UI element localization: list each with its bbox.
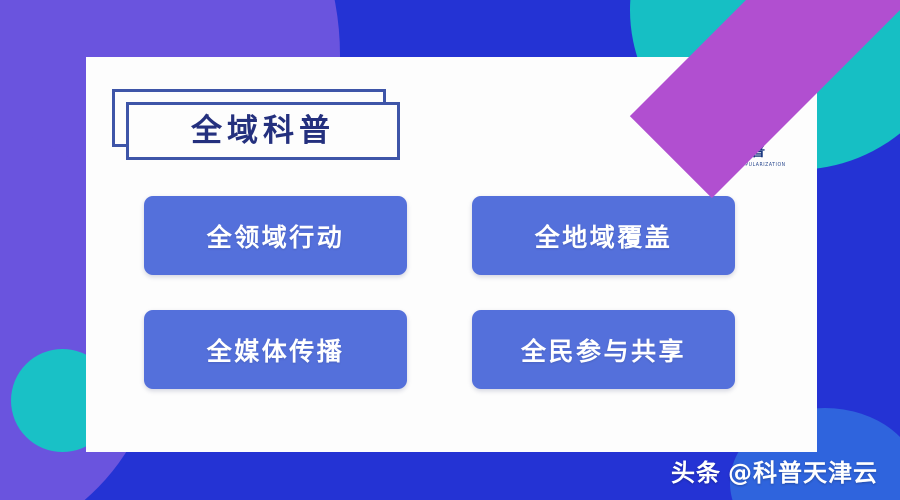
pillar-card-2[interactable]: 全地域覆盖 [472, 196, 735, 275]
title-frame-inner: 全域科普 [126, 102, 400, 160]
pillar-card-3[interactable]: 全媒体传播 [144, 310, 407, 389]
pillar-label: 全民参与共享 [521, 332, 686, 368]
pillar-label: 全媒体传播 [207, 332, 345, 368]
pillar-card-1[interactable]: 全领域行动 [144, 196, 407, 275]
pillar-card-4[interactable]: 全民参与共享 [472, 310, 735, 389]
page-title: 全域科普 [191, 116, 335, 147]
poster-canvas: 全域科普 [0, 0, 900, 500]
pillar-label: 全地域覆盖 [535, 218, 673, 254]
watermark-account: @科普天津云 [728, 453, 878, 488]
pillar-label: 全领域行动 [207, 218, 345, 254]
watermark-platform: 头条 [671, 453, 721, 488]
watermark: 头条 @科普天津云 [671, 453, 878, 488]
pillar-grid: 全领域行动 全地域覆盖 全媒体传播 全民参与共享 [144, 196, 764, 421]
title-frame: 全域科普 [112, 89, 412, 157]
